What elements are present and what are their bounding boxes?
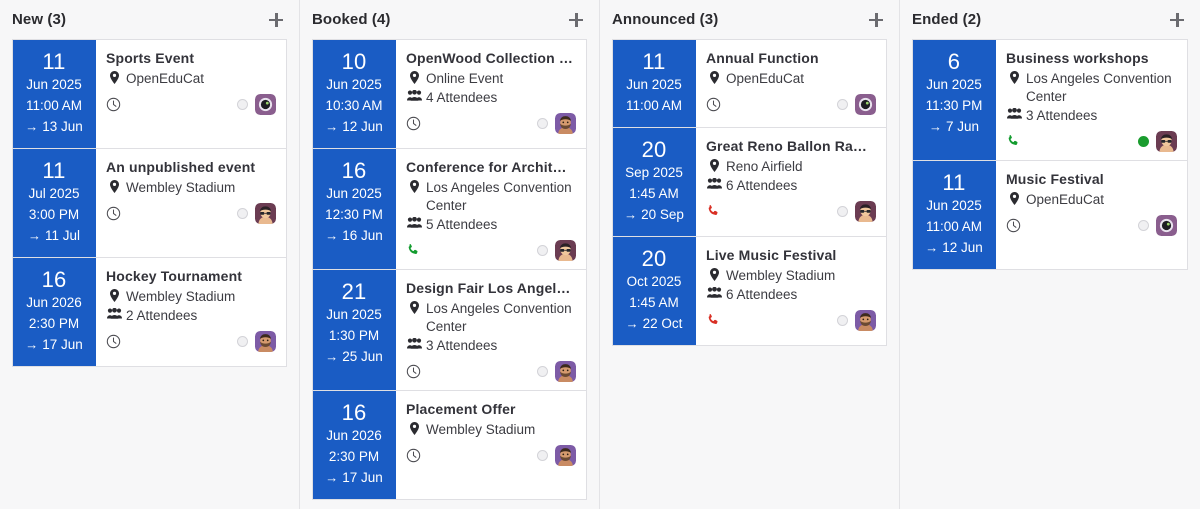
location-pin-icon [406,421,423,435]
status-badge[interactable] [537,245,548,256]
card-footer [706,93,876,115]
card-body: Conference for Archit…Los Angeles Conven… [396,149,586,269]
card-title: Design Fair Los Angel… [406,279,576,297]
arrow-right-icon: → [325,119,338,134]
card-end-date: →13 Jun [19,116,89,137]
event-card[interactable]: 16Jun 202512:30 PM→16 JunConference for … [312,149,587,270]
status-badge[interactable] [537,118,548,129]
card-title: Music Festival [1006,170,1177,188]
kanban-column-new: New (3)11Jun 202511:00 AM→13 JunSports E… [0,0,300,509]
card-month-year: Jun 2025 [919,195,989,216]
card-attendees: 6 Attendees [706,286,876,304]
clock-icon [406,364,421,379]
card-month-year: Jul 2025 [19,183,89,204]
card-date-block: 21Jun 20251:30 PM→25 Jun [313,270,396,390]
card-end-date: →20 Sep [619,204,689,225]
column-header-new: New (3) [0,0,299,39]
card-day: 16 [19,267,89,292]
location-pin-icon [110,180,119,193]
avatar [555,240,576,261]
card-month-year: Jun 2025 [619,74,689,95]
attendees-group-icon [706,177,723,189]
location-pin-icon [706,158,723,172]
attendees-group-icon [107,308,122,319]
location-pin-icon [406,300,423,314]
card-body: OpenWood Collection …Online Event4 Atten… [396,40,586,148]
avatar [555,113,576,134]
card-day: 20 [619,246,689,271]
attendees-group-icon [407,338,422,349]
card-status-icon[interactable] [706,313,720,327]
attendees-group-icon [407,90,422,101]
column-card-list: 6Jun 202511:30 PM→7 JunBusiness workshop… [900,39,1200,270]
arrow-right-icon: → [325,470,338,485]
status-badge[interactable] [537,366,548,377]
arrow-right-icon: → [25,337,38,352]
card-body: Music FestivalOpenEduCat [996,161,1187,269]
card-month-year: Jun 2025 [19,74,89,95]
card-day: 16 [319,400,389,425]
event-card[interactable]: 11Jul 20253:00 PM→11 JulAn unpublished e… [12,149,287,258]
arrow-right-icon: → [624,207,637,222]
card-end-date: →17 Jun [19,334,89,355]
avatar [555,445,576,466]
status-badge[interactable] [237,336,248,347]
card-body: Business workshopsLos Angeles Convention… [996,40,1187,160]
card-month-year: Oct 2025 [619,271,689,292]
column-title: Booked (4) [312,11,391,28]
phone-icon [406,243,420,257]
attendees-group-icon [1006,107,1023,119]
card-attendees: 6 Attendees [706,177,876,195]
avatar [1156,131,1177,152]
card-end-date: →25 Jun [319,346,389,367]
card-location: Los Angeles Convention Center [406,300,576,336]
card-time: 12:30 PM [319,204,389,225]
card-month-year: Jun 2025 [319,183,389,204]
card-end-date: →16 Jun [319,225,389,246]
card-status-icon[interactable] [706,204,720,218]
kanban-column-booked: Booked (4)10Jun 202510:30 AM→12 JunOpenW… [300,0,600,509]
event-card[interactable]: 21Jun 20251:30 PM→25 JunDesign Fair Los … [312,270,587,391]
card-body: An unpublished eventWembley Stadium [96,149,286,257]
location-pin-icon [706,267,723,281]
column-header-booked: Booked (4) [300,0,599,39]
status-badge[interactable] [837,99,848,110]
card-title: Hockey Tournament [106,267,276,285]
card-attendees: 4 Attendees [406,89,576,107]
card-date-block: 11Jul 20253:00 PM→11 Jul [13,149,96,257]
avatar [255,94,276,115]
location-pin-icon [106,70,123,84]
location-pin-icon [106,179,123,193]
card-date-block: 11Jun 202511:00 AM [613,40,696,127]
card-footer [706,309,876,331]
column-title: Ended (2) [912,11,981,28]
card-day: 6 [919,49,989,74]
attendees-group-icon [406,337,423,349]
card-body: Placement OfferWembley Stadium [396,391,586,499]
avatar [855,201,876,222]
location-pin-icon [710,159,719,172]
kanban-column-ended: Ended (2)6Jun 202511:30 PM→7 JunBusiness… [900,0,1200,509]
card-attendees: 3 Attendees [406,337,576,355]
card-location: OpenEduCat [106,70,276,88]
card-day: 11 [919,170,989,195]
card-status-icon[interactable] [1006,218,1021,233]
card-location: Wembley Stadium [106,179,276,197]
card-time: 1:45 AM [619,292,689,313]
location-pin-icon [410,71,419,84]
column-title: New (3) [12,11,66,28]
card-day: 11 [19,49,89,74]
card-day: 10 [319,49,389,74]
card-attendees: 5 Attendees [406,216,576,234]
avatar [255,203,276,224]
clock-icon [106,334,121,349]
card-date-block: 6Jun 202511:30 PM→7 Jun [913,40,996,160]
location-pin-icon [106,288,123,302]
arrow-right-icon: → [28,228,41,243]
location-pin-icon [110,289,119,302]
location-pin-icon [406,179,423,193]
card-day: 11 [619,49,689,74]
card-status-icon[interactable] [406,243,420,257]
arrow-right-icon: → [925,240,938,255]
arrow-right-icon: → [626,316,639,331]
clock-icon [406,116,421,131]
card-body: Annual FunctionOpenEduCat [696,40,886,127]
card-footer [406,112,576,134]
clock-icon [106,206,121,221]
card-location: Online Event [406,70,576,88]
card-month-year: Jun 2025 [919,74,989,95]
card-status-icon[interactable] [1006,134,1020,148]
status-badge[interactable] [237,99,248,110]
status-badge[interactable] [837,315,848,326]
card-date-block: 10Jun 202510:30 AM→12 Jun [313,40,396,148]
location-pin-icon [1010,192,1019,205]
avatar [855,310,876,331]
card-location: Los Angeles Convention Center [1006,70,1177,106]
location-pin-icon [406,70,423,84]
arrow-right-icon: → [25,119,38,134]
card-date-block: 11Jun 202511:00 AM→12 Jun [913,161,996,269]
attendees-group-icon [406,216,423,228]
status-badge[interactable] [237,208,248,219]
card-attendees: 3 Attendees [1006,107,1177,125]
avatar [1156,215,1177,236]
card-time: 11:00 AM [619,95,689,116]
clock-icon [406,448,421,463]
card-end-date: →11 Jul [19,225,89,246]
event-card[interactable]: 20Oct 20251:45 AM→22 OctLive Music Festi… [612,237,887,346]
card-time: 1:45 AM [619,183,689,204]
card-month-year: Jun 2025 [319,304,389,325]
location-pin-icon [1010,71,1019,84]
card-title: Placement Offer [406,400,576,418]
card-footer [706,200,876,222]
plus-icon[interactable] [567,11,585,29]
location-pin-icon [410,422,419,435]
card-location: OpenEduCat [706,70,876,88]
location-pin-icon [110,71,119,84]
card-status-icon[interactable] [406,364,421,379]
card-time: 2:30 PM [19,313,89,334]
card-time: 2:30 PM [319,446,389,467]
phone-icon [706,313,720,327]
attendees-group-icon [407,217,422,228]
card-body: Great Reno Ballon Ra…Reno Airfield6 Atte… [696,128,886,236]
event-card[interactable]: 11Jun 202511:00 AMAnnual FunctionOpenEdu… [612,39,887,128]
attendees-group-icon [706,286,723,298]
card-end-date: →22 Oct [619,313,689,334]
card-end-date: →12 Jun [919,237,989,258]
avatar [255,331,276,352]
card-body: Design Fair Los Angel…Los Angeles Conven… [396,270,586,390]
event-card[interactable]: 11Jun 202511:00 AM→12 JunMusic FestivalO… [912,161,1188,270]
card-end-date: →17 Jun [319,467,389,488]
card-footer [106,93,276,115]
card-date-block: 16Jun 20262:30 PM→17 Jun [13,258,96,366]
status-badge[interactable] [1138,136,1149,147]
column-card-list: 10Jun 202510:30 AM→12 JunOpenWood Collec… [300,39,599,500]
attendees-group-icon [1007,108,1022,119]
card-footer [106,202,276,224]
column-card-list: 11Jun 202511:00 AMAnnual FunctionOpenEdu… [600,39,899,346]
card-end-date: →12 Jun [319,116,389,137]
plus-icon[interactable] [867,11,885,29]
card-attendees: 2 Attendees [106,307,276,325]
card-footer [1006,214,1177,236]
avatar [855,94,876,115]
event-card[interactable]: 10Jun 202510:30 AM→12 JunOpenWood Collec… [312,39,587,149]
card-month-year: Sep 2025 [619,162,689,183]
arrow-right-icon: → [325,228,338,243]
location-pin-icon [410,301,419,314]
event-card[interactable]: 6Jun 202511:30 PM→7 JunBusiness workshop… [912,39,1188,161]
card-location: Wembley Stadium [106,288,276,306]
card-day: 11 [19,158,89,183]
location-pin-icon [410,180,419,193]
location-pin-icon [1006,191,1023,205]
card-time: 3:00 PM [19,204,89,225]
column-header-announced: Announced (3) [600,0,899,39]
column-card-list: 11Jun 202511:00 AM→13 JunSports EventOpe… [0,39,299,367]
card-time: 1:30 PM [319,325,389,346]
card-date-block: 20Oct 20251:45 AM→22 Oct [613,237,696,345]
card-location: Wembley Stadium [706,267,876,285]
avatar [555,361,576,382]
clock-icon [106,97,121,112]
arrow-right-icon: → [929,119,942,134]
phone-icon [1006,134,1020,148]
card-date-block: 16Jun 20262:30 PM→17 Jun [313,391,396,499]
plus-icon[interactable] [1168,11,1186,29]
attendees-group-icon [106,307,123,319]
status-badge[interactable] [537,450,548,461]
card-month-year: Jun 2026 [319,425,389,446]
card-location: Los Angeles Convention Center [406,179,576,215]
card-status-icon[interactable] [406,116,421,131]
card-title: An unpublished event [106,158,276,176]
kanban-board: New (3)11Jun 202511:00 AM→13 JunSports E… [0,0,1200,509]
card-title: Business workshops [1006,49,1177,67]
card-end-date: →7 Jun [919,116,989,137]
location-pin-icon [710,71,719,84]
card-title: Live Music Festival [706,246,876,264]
card-location: OpenEduCat [1006,191,1177,209]
card-date-block: 11Jun 202511:00 AM→13 Jun [13,40,96,148]
card-footer [406,360,576,382]
event-card[interactable]: 16Jun 20262:30 PM→17 JunHockey Tournamen… [12,258,287,367]
location-pin-icon [1006,70,1023,84]
card-time: 10:30 AM [319,95,389,116]
card-status-icon[interactable] [106,206,121,221]
card-footer [406,444,576,466]
kanban-column-announced: Announced (3)11Jun 202511:00 AMAnnual Fu… [600,0,900,509]
card-body: Hockey TournamentWembley Stadium2 Attend… [96,258,286,366]
card-status-icon[interactable] [106,334,121,349]
card-month-year: Jun 2026 [19,292,89,313]
location-pin-icon [710,268,719,281]
attendees-group-icon [707,178,722,189]
attendees-group-icon [406,89,423,101]
card-status-icon[interactable] [106,97,121,112]
card-day: 20 [619,137,689,162]
card-body: Sports EventOpenEduCat [96,40,286,148]
status-badge[interactable] [1138,220,1149,231]
card-time: 11:00 AM [19,95,89,116]
card-title: Conference for Archit… [406,158,576,176]
event-card[interactable]: 11Jun 202511:00 AM→13 JunSports EventOpe… [12,39,287,149]
card-title: Great Reno Ballon Ra… [706,137,876,155]
plus-icon[interactable] [267,11,285,29]
card-month-year: Jun 2025 [319,74,389,95]
card-footer [406,239,576,261]
clock-icon [706,97,721,112]
card-title: Sports Event [106,49,276,67]
card-title: OpenWood Collection … [406,49,576,67]
card-day: 16 [319,158,389,183]
card-location: Reno Airfield [706,158,876,176]
event-card[interactable]: 20Sep 20251:45 AM→20 SepGreat Reno Ballo… [612,128,887,237]
attendees-group-icon [707,287,722,298]
card-title: Annual Function [706,49,876,67]
card-date-block: 16Jun 202512:30 PM→16 Jun [313,149,396,269]
event-card[interactable]: 16Jun 20262:30 PM→17 JunPlacement OfferW… [312,391,587,500]
card-body: Live Music FestivalWembley Stadium6 Atte… [696,237,886,345]
card-day: 21 [319,279,389,304]
status-badge[interactable] [837,206,848,217]
card-date-block: 20Sep 20251:45 AM→20 Sep [613,128,696,236]
card-location: Wembley Stadium [406,421,576,439]
location-pin-icon [706,70,723,84]
card-time: 11:30 PM [919,95,989,116]
column-title: Announced (3) [612,11,718,28]
arrow-right-icon: → [325,349,338,364]
card-time: 11:00 AM [919,216,989,237]
clock-icon [1006,218,1021,233]
card-footer [1006,130,1177,152]
column-header-ended: Ended (2) [900,0,1200,39]
card-status-icon[interactable] [706,97,721,112]
card-status-icon[interactable] [406,448,421,463]
card-footer [106,330,276,352]
phone-icon [706,204,720,218]
